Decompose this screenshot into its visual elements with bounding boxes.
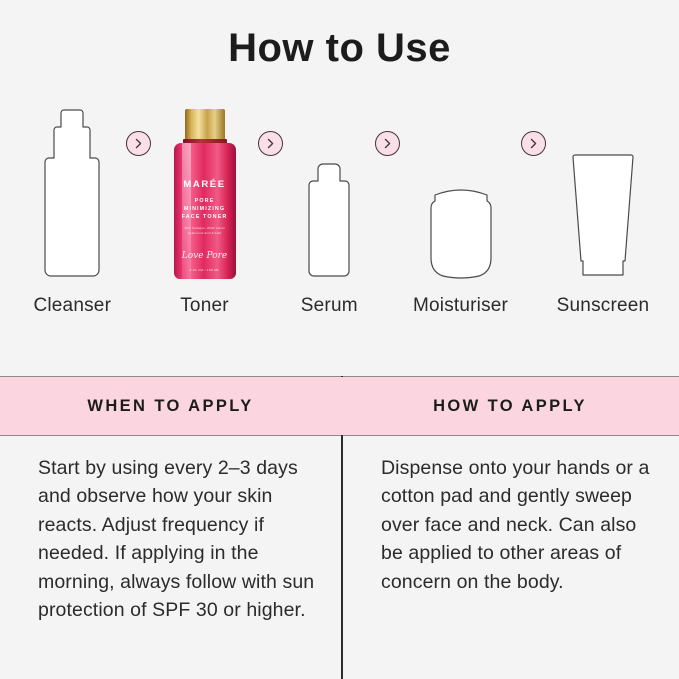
routine-step-label: Serum xyxy=(301,295,358,317)
routine-step-sunscreen[interactable]: Sunscreen xyxy=(549,82,657,317)
section-heading: HOW TO APPLY xyxy=(433,397,587,416)
toner-cap xyxy=(185,109,225,140)
product-brand: MARÉE xyxy=(174,179,236,190)
routine-connector-4 xyxy=(517,26,549,317)
routine-steps: Cleanser MARÉE PORE MINIMIZING FACE TONE… xyxy=(0,82,679,317)
squeeze-tube-icon xyxy=(566,99,640,279)
chevron-right-icon xyxy=(258,131,283,156)
cream-jar-icon xyxy=(421,99,501,279)
product-name-line2: FACE TONER xyxy=(174,213,236,221)
product-script-text: Love Pore xyxy=(174,251,236,261)
toner-bottle-icon: MARÉE PORE MINIMIZING FACE TONER With Co… xyxy=(172,99,238,279)
dropper-bottle-icon xyxy=(301,99,357,279)
routine-step-toner[interactable]: MARÉE PORE MINIMIZING FACE TONER With Co… xyxy=(154,82,255,317)
routine-step-cleanser[interactable]: Cleanser xyxy=(22,82,123,317)
pump-bottle-icon xyxy=(38,99,106,279)
section-body-text: Start by using every 2–3 days and observ… xyxy=(38,454,315,625)
routine-step-moisturiser[interactable]: Moisturiser xyxy=(404,82,518,317)
section-header-band: WHEN TO APPLY HOW TO APPLY xyxy=(0,377,679,435)
routine-connector-2 xyxy=(255,26,287,317)
routine-step-label: Sunscreen xyxy=(557,295,650,317)
section-body-how: Dispense onto your hands or a cotton pad… xyxy=(341,436,679,679)
section-body-when: Start by using every 2–3 days and observ… xyxy=(0,436,341,679)
page-title: How to Use xyxy=(0,0,679,68)
chevron-right-icon xyxy=(126,131,151,156)
chevron-right-icon xyxy=(375,131,400,156)
chevron-right-icon xyxy=(521,131,546,156)
section-body-text: Dispense onto your hands or a cotton pad… xyxy=(381,454,661,596)
product-volume: 5 FL OZ / 150 ML xyxy=(174,268,236,272)
routine-step-serum[interactable]: Serum xyxy=(286,82,372,317)
routine-connector-1 xyxy=(123,26,155,317)
section-heading: WHEN TO APPLY xyxy=(87,397,253,416)
product-fine-print-2: Hyaluronic Acid & AHA xyxy=(174,231,236,236)
section-header-how: HOW TO APPLY xyxy=(341,377,679,435)
routine-step-label: Moisturiser xyxy=(413,295,508,317)
product-name-line1: PORE MINIMIZING xyxy=(174,197,236,213)
section-body-columns: Start by using every 2–3 days and observ… xyxy=(0,436,679,679)
toner-label: MARÉE PORE MINIMIZING FACE TONER With Co… xyxy=(174,179,236,235)
toner-body: MARÉE PORE MINIMIZING FACE TONER With Co… xyxy=(174,143,236,279)
section-header-when: WHEN TO APPLY xyxy=(0,377,341,435)
routine-step-label: Cleanser xyxy=(33,295,111,317)
routine-connector-3 xyxy=(372,26,404,317)
routine-step-label: Toner xyxy=(180,295,229,317)
